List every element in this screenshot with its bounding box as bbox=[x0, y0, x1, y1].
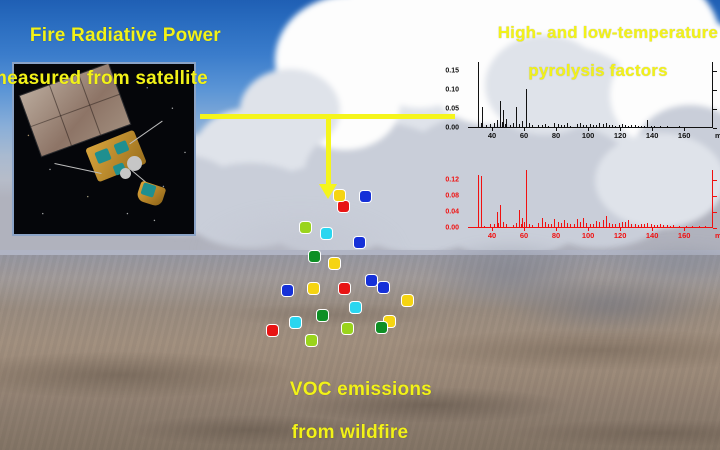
spectrum-peak bbox=[647, 223, 648, 228]
spectrum-peak bbox=[497, 120, 498, 128]
spectrum-peak bbox=[622, 124, 623, 128]
x-axis-tick-label: 100 bbox=[582, 231, 595, 240]
voc-marker bbox=[378, 282, 389, 293]
label-voc-line1: VOC emissions bbox=[290, 379, 432, 400]
spectrum-peak bbox=[570, 224, 571, 228]
voc-marker bbox=[267, 325, 278, 336]
y-axis-tick bbox=[713, 212, 717, 213]
spectrum-peak bbox=[516, 223, 517, 228]
y-axis-line bbox=[712, 170, 713, 228]
spectrum-peak bbox=[609, 223, 610, 228]
spectrum-peak bbox=[644, 224, 645, 228]
spectrum-peak bbox=[574, 224, 575, 228]
spectrum-peak bbox=[494, 224, 495, 228]
spectrum-peak bbox=[590, 124, 591, 128]
voc-marker bbox=[342, 323, 353, 334]
spectrum-peak bbox=[635, 224, 636, 228]
spectrum-peak bbox=[583, 125, 584, 128]
spectrum-peak bbox=[577, 219, 578, 228]
voc-marker bbox=[402, 295, 413, 306]
voc-marker bbox=[376, 322, 387, 333]
y-axis-tick-label: 0.04 bbox=[445, 209, 462, 216]
voc-marker bbox=[360, 191, 371, 202]
label-pyrolysis-line2: pyrolysis factors bbox=[478, 61, 718, 80]
voc-marker bbox=[321, 228, 332, 239]
spectrum-peak bbox=[532, 225, 533, 228]
voc-marker bbox=[354, 237, 365, 248]
voc-marker bbox=[300, 222, 311, 233]
spectrum-peak bbox=[654, 126, 655, 128]
x-axis-tick-label: 80 bbox=[552, 231, 560, 240]
spectrum-peak bbox=[641, 224, 642, 228]
spectrum-peak bbox=[494, 123, 495, 128]
spectrum-peak bbox=[631, 224, 632, 228]
spectrum-peak bbox=[638, 126, 639, 128]
x-axis-tick-label: 40 bbox=[488, 231, 496, 240]
spectrum-peak bbox=[538, 223, 539, 228]
y-axis-tick bbox=[713, 196, 717, 197]
spectrum-peak bbox=[526, 170, 527, 228]
spectrum-peak bbox=[660, 224, 661, 228]
spectrum-peak bbox=[663, 225, 664, 228]
spectrum-peak bbox=[673, 127, 674, 129]
voc-marker bbox=[317, 310, 328, 321]
spectrum-peak bbox=[506, 224, 507, 228]
spectrum-peak bbox=[606, 123, 607, 128]
spectrum-peak bbox=[545, 222, 546, 228]
spectrum-peak bbox=[580, 222, 581, 228]
y-axis-tick-label: 0.00 bbox=[445, 125, 462, 132]
y-axis-tick-label: 0.12 bbox=[445, 177, 462, 184]
voc-marker bbox=[338, 201, 349, 212]
spectrum-peak bbox=[667, 225, 668, 228]
label-fire-radiative-power: Fire Radiative Power measured from satel… bbox=[8, 4, 221, 132]
spectrum-peak bbox=[564, 220, 565, 228]
spectrum-peak bbox=[554, 219, 555, 228]
x-axis-tick-label: 160 bbox=[678, 131, 691, 140]
y-axis-tick-label: 0.05 bbox=[445, 106, 462, 113]
spectrum-peak bbox=[522, 121, 523, 128]
figure-canvas: 0.000.050.100.15406080100120140160m/z 0.… bbox=[0, 0, 720, 450]
spectrum-peak bbox=[603, 220, 604, 228]
spectrum-peak bbox=[679, 126, 680, 128]
x-axis-title: m/z bbox=[715, 131, 720, 140]
spectrum-plot-area: 0.000.040.080.12406080100120140160m/z bbox=[468, 170, 713, 228]
spectrum-peak bbox=[545, 124, 546, 128]
spectrum-peak bbox=[529, 123, 530, 128]
spectrum-peak bbox=[593, 125, 594, 128]
spectrum-peak bbox=[564, 125, 565, 128]
spectrum-peak bbox=[548, 224, 549, 228]
label-pyrolysis-line1: High- and low-temperature bbox=[498, 23, 718, 42]
label-frp-line2: measured from satellite bbox=[0, 68, 221, 89]
spectrum-peak bbox=[570, 126, 571, 128]
spectrum-peak bbox=[599, 123, 600, 128]
x-axis-tick-label: 100 bbox=[582, 131, 595, 140]
spectrum-peak bbox=[670, 226, 671, 228]
spectrum-peak bbox=[590, 224, 591, 228]
spectrum-peak bbox=[519, 124, 520, 128]
spectrum-peak bbox=[513, 225, 514, 228]
spectrum-peak bbox=[506, 119, 507, 128]
voc-marker bbox=[366, 275, 377, 286]
spectrum-peak bbox=[510, 125, 511, 128]
spectrum-peak bbox=[500, 205, 501, 228]
spectrum-peak bbox=[486, 125, 487, 128]
y-axis-tick bbox=[713, 180, 717, 181]
spectrum-peak bbox=[609, 125, 610, 128]
spectrum-peak bbox=[558, 124, 559, 128]
spectrum-peak bbox=[692, 226, 693, 228]
x-axis-tick-label: 120 bbox=[614, 231, 627, 240]
spectrum-peak bbox=[593, 224, 594, 228]
spectrum-peak bbox=[603, 124, 604, 128]
x-axis-tick-label: 140 bbox=[646, 131, 659, 140]
spectrum-peak bbox=[699, 226, 700, 228]
spectrum-peak bbox=[532, 125, 533, 128]
voc-marker bbox=[308, 283, 319, 294]
spectrum-peak bbox=[558, 222, 559, 228]
spectrum-peak bbox=[667, 126, 668, 128]
voc-marker bbox=[350, 302, 361, 313]
spectrum-peak bbox=[644, 126, 645, 128]
spectrum-peak bbox=[692, 127, 693, 129]
x-axis-tick-label: 140 bbox=[646, 231, 659, 240]
x-axis-title: m/z bbox=[715, 231, 720, 240]
y-axis-tick-label: 0.10 bbox=[445, 87, 462, 94]
voc-marker bbox=[282, 285, 293, 296]
spectrum-peak bbox=[705, 127, 706, 129]
spectrum-peak bbox=[478, 175, 479, 228]
spectrum-peak bbox=[699, 127, 700, 128]
spectrum-peak bbox=[542, 218, 543, 228]
spectrum-peak bbox=[625, 222, 626, 228]
spectrum-peak bbox=[628, 220, 629, 228]
spectrum-peak bbox=[548, 126, 549, 128]
spectrum-peak bbox=[561, 125, 562, 128]
voc-marker bbox=[339, 283, 350, 294]
spectrum-peak bbox=[481, 176, 482, 228]
x-axis-tick-label: 120 bbox=[614, 131, 627, 140]
spectrum-peak bbox=[567, 223, 568, 228]
label-voc-line2: from wildfire bbox=[268, 422, 432, 443]
spectrum-peak bbox=[612, 125, 613, 128]
y-axis-tick-label: 0.08 bbox=[445, 193, 462, 200]
spectrum-peak bbox=[551, 224, 552, 228]
x-axis-tick-label: 60 bbox=[520, 231, 528, 240]
spectrum-peak bbox=[686, 226, 687, 228]
spectrum-peak bbox=[679, 226, 680, 228]
label-frp-line1: Fire Radiative Power bbox=[30, 25, 221, 46]
spectrum-peak bbox=[635, 125, 636, 128]
spectrum-peak bbox=[625, 125, 626, 128]
voc-marker bbox=[329, 258, 340, 269]
spectrum-peak bbox=[577, 124, 578, 128]
spectrum-peak bbox=[583, 218, 584, 228]
voc-marker bbox=[290, 317, 301, 328]
spectrum-peak bbox=[673, 225, 674, 228]
voc-marker bbox=[306, 335, 317, 346]
x-axis-tick-label: 40 bbox=[488, 131, 496, 140]
spectrum-peak bbox=[612, 224, 613, 228]
x-axis-tick-label: 80 bbox=[552, 131, 560, 140]
spectrum-peak bbox=[638, 225, 639, 228]
y-axis-tick-label: 0.15 bbox=[445, 68, 462, 75]
spectrum-peak bbox=[615, 224, 616, 228]
spectrum-peak bbox=[513, 123, 514, 128]
label-pyrolysis-factors: High- and low-temperature pyrolysis fact… bbox=[478, 4, 718, 118]
spectrum-peak bbox=[628, 126, 629, 128]
spectrum-peak bbox=[705, 226, 706, 228]
spectrum-peak bbox=[529, 224, 530, 228]
voc-marker bbox=[309, 251, 320, 262]
spectrum-peak bbox=[615, 126, 616, 128]
spectrum-peak bbox=[647, 120, 648, 128]
spectrum-peak bbox=[596, 221, 597, 228]
y-axis-tick bbox=[713, 128, 717, 129]
spectrum-peak bbox=[596, 125, 597, 128]
spectrum-peak bbox=[622, 222, 623, 228]
spectrum-peak bbox=[631, 125, 632, 128]
y-axis-tick bbox=[713, 228, 717, 229]
spectrum-peak bbox=[542, 125, 543, 128]
voc-marker bbox=[334, 190, 345, 201]
spectrum-peak bbox=[599, 222, 600, 228]
spectrum-peak bbox=[580, 123, 581, 128]
spectrum-peak bbox=[567, 123, 568, 128]
spectrum-peak bbox=[657, 225, 658, 228]
spectrum-peak bbox=[561, 223, 562, 228]
spectrum-peak bbox=[660, 126, 661, 128]
spectrum-peak bbox=[686, 127, 687, 129]
spectrum-peak bbox=[641, 126, 642, 128]
x-axis-tick-label: 160 bbox=[678, 231, 691, 240]
spectrum-peak bbox=[654, 225, 655, 228]
spectrum-peak bbox=[503, 222, 504, 228]
spectrum-peak bbox=[538, 125, 539, 128]
spectrum-peak bbox=[484, 226, 485, 228]
label-voc-emissions: VOC emissions from wildfire bbox=[268, 358, 432, 450]
spectrum-peak bbox=[606, 216, 607, 228]
x-axis-tick-label: 60 bbox=[520, 131, 528, 140]
spectrum-low-temperature: 0.000.040.080.12406080100120140160m/z bbox=[468, 170, 713, 242]
y-axis-tick-label: 0.00 bbox=[445, 225, 462, 232]
